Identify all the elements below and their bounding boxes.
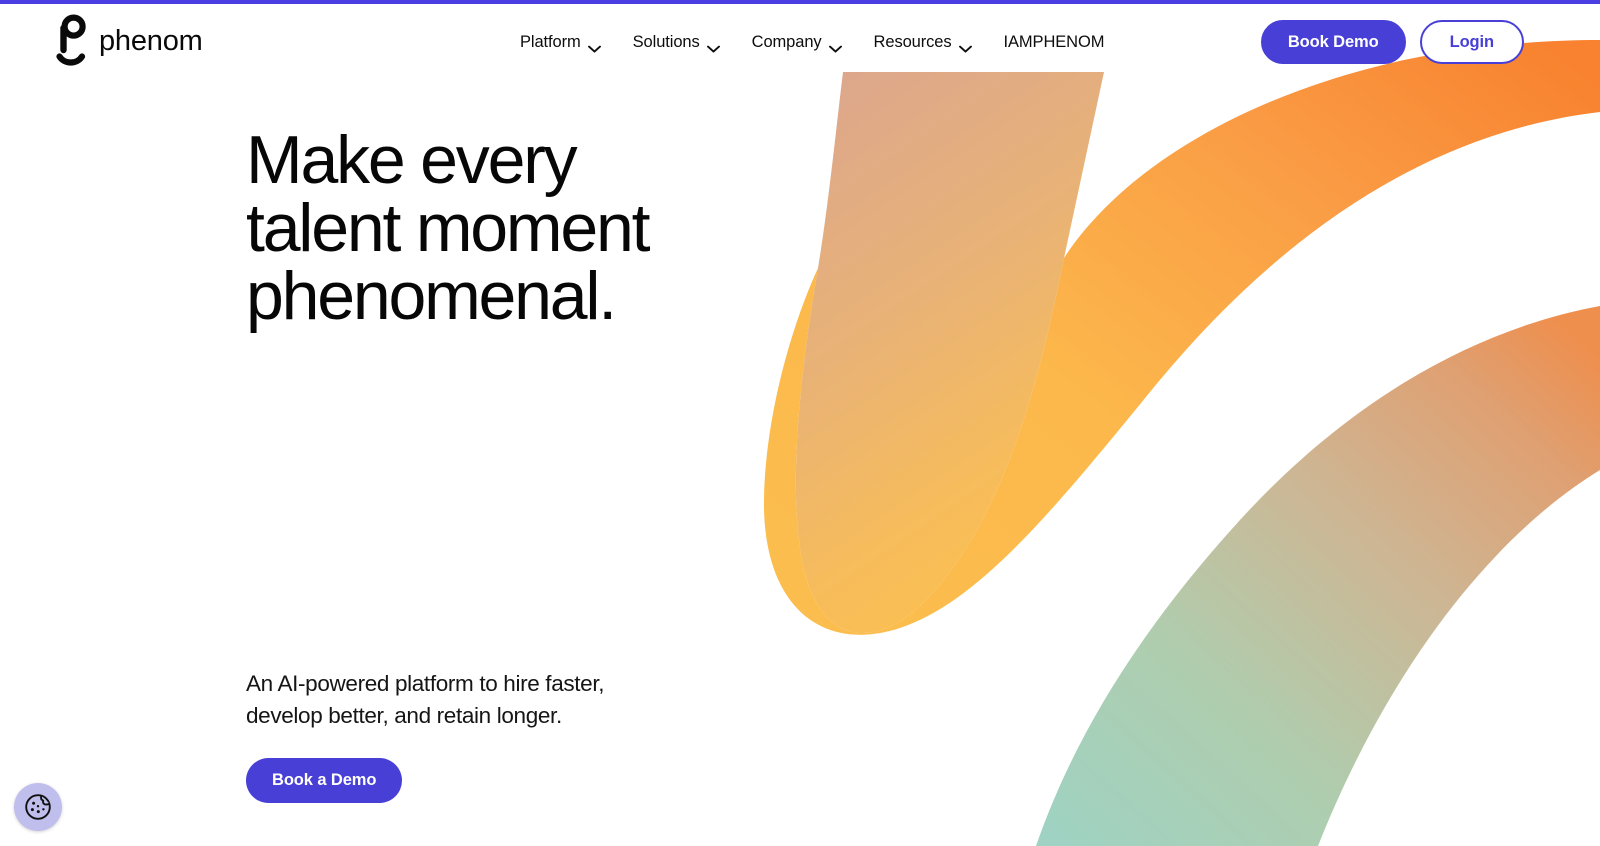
nav-item-company[interactable]: Company	[736, 25, 858, 60]
main-navigation: Platform Solutions Company Resources	[520, 4, 1120, 80]
chevron-down-icon	[959, 39, 972, 47]
cookie-settings-button[interactable]	[14, 783, 62, 831]
site-header: phenom Platform Solutions Company	[0, 4, 1600, 80]
hero-headline: Make every talent moment phenomenal.	[246, 126, 886, 330]
logo-link[interactable]: phenom	[56, 14, 203, 66]
page-root: phenom Platform Solutions Company	[0, 0, 1600, 846]
nav-item-label: Company	[752, 33, 822, 52]
chevron-down-icon	[829, 39, 842, 47]
hero-subtitle-line: An AI-powered platform to hire faster,	[246, 668, 766, 700]
hero-subtitle: An AI-powered platform to hire faster, d…	[246, 668, 766, 732]
chevron-down-icon	[588, 39, 601, 47]
header-actions: Book Demo Login	[1261, 4, 1524, 80]
nav-item-label: Platform	[520, 33, 581, 52]
nav-item-label: Resources	[874, 33, 952, 52]
top-accent-bar	[0, 0, 1600, 4]
hero-headline-line: Make every	[246, 126, 886, 194]
chevron-down-icon	[707, 39, 720, 47]
hero-headline-line: phenomenal.	[246, 262, 886, 330]
logo-wordmark: phenom	[99, 27, 203, 56]
hero-section: Make every talent moment phenomenal. An …	[0, 0, 1600, 846]
nav-item-platform[interactable]: Platform	[520, 25, 617, 60]
nav-item-resources[interactable]: Resources	[858, 25, 988, 60]
login-button[interactable]: Login	[1420, 20, 1524, 64]
hero-book-a-demo-button[interactable]: Book a Demo	[246, 758, 402, 803]
nav-item-solutions[interactable]: Solutions	[617, 25, 736, 60]
nav-item-label: Solutions	[633, 33, 700, 52]
phenom-p-mark-icon	[56, 14, 90, 66]
nav-item-iamphenom[interactable]: IAMPHENOM	[988, 25, 1121, 60]
book-demo-button[interactable]: Book Demo	[1261, 20, 1406, 64]
hero-subtitle-line: develop better, and retain longer.	[246, 700, 766, 732]
nav-item-label: IAMPHENOM	[1004, 33, 1105, 52]
hero-headline-line: talent moment	[246, 194, 886, 262]
cookie-icon	[23, 792, 53, 822]
